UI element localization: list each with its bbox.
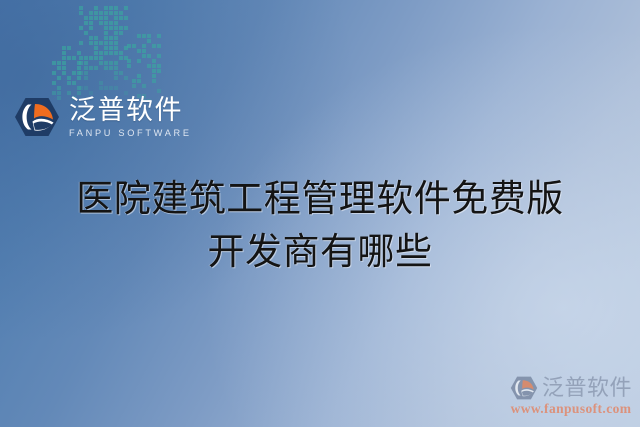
watermark-hexagon-mark-icon [510,376,538,400]
watermark-logo: 泛普软件 [510,376,632,400]
promotional-banner: 泛普软件 FANPU SOFTWARE 医院建筑工程管理软件免费版 开发商有哪些… [0,0,640,427]
headline-line-2: 开发商有哪些 [0,225,640,278]
fanpu-hexagon-mark-icon [14,97,60,137]
page-title: 医院建筑工程管理软件免费版 开发商有哪些 [0,172,640,278]
brand-logo: 泛普软件 FANPU SOFTWARE [14,96,192,139]
headline-line-1: 医院建筑工程管理软件免费版 [0,172,640,225]
watermark: 泛普软件 www.fanpusoft.com [510,376,632,417]
pixel-mosaic-skyline-icon [0,0,200,100]
watermark-cn-text: 泛普软件 [542,377,632,399]
logo-en-text: FANPU SOFTWARE [69,128,192,139]
watermark-url: www.fanpusoft.com [511,402,632,417]
logo-cn-text: 泛普软件 [69,97,192,125]
logo-wordmark: 泛普软件 FANPU SOFTWARE [69,96,192,139]
